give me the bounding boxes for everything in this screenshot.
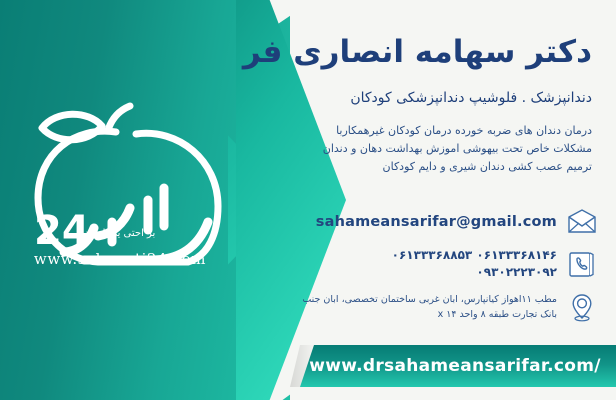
services-description: درمان دندان های ضربه خورده درمان کودکان … xyxy=(302,122,592,176)
website-url[interactable]: www.drsahameansarifar.com/ xyxy=(300,345,610,387)
address-line-2: بانک تجارت طبقه ۸ واحد ۱۴ x xyxy=(302,307,557,322)
phone-book-icon xyxy=(566,248,598,280)
phone-line-2: ۰۹۳۰۲۲۲۳۰۹۲ xyxy=(392,264,557,281)
business-card: 24 بر احتی یک لبخند www.salamati24.com د… xyxy=(0,0,616,400)
contact-email-row[interactable]: sahameansarifar@gmail.com xyxy=(316,206,598,238)
address-text: مطب ۱۱اهواز کیانپارس، ابان غربی ساختمان … xyxy=(302,292,557,322)
doctor-subtitle: دندانپزشک . فلوشیپ دندانپزشکی کودکان xyxy=(350,90,592,106)
envelope-icon xyxy=(566,206,598,238)
logo-tagline: بر احتی یک لبخند xyxy=(14,228,226,239)
contact-address-row[interactable]: مطب ۱۱اهواز کیانپارس، ابان غربی ساختمان … xyxy=(302,291,598,323)
location-pin-icon xyxy=(566,291,598,323)
phone-line-1: ۰۶۱۳۳۳۶۸۱۴۶ ۰۶۱۳۳۳۶۸۸۵۳ xyxy=(392,247,557,264)
doctor-name: دکتر سهامه انصاری فر xyxy=(243,34,592,70)
phone-text[interactable]: ۰۶۱۳۳۳۶۸۱۴۶ ۰۶۱۳۳۳۶۸۸۵۳ ۰۹۳۰۲۲۲۳۰۹۲ xyxy=(392,247,557,282)
logo-url: www.salamati24.com xyxy=(14,250,226,268)
contact-phone-row[interactable]: ۰۶۱۳۳۳۶۸۱۴۶ ۰۶۱۳۳۳۶۸۸۵۳ ۰۹۳۰۲۲۲۳۰۹۲ xyxy=(392,247,598,282)
email-text[interactable]: sahameansarifar@gmail.com xyxy=(316,214,557,230)
address-line-1: مطب ۱۱اهواز کیانپارس، ابان غربی ساختمان … xyxy=(302,292,557,307)
